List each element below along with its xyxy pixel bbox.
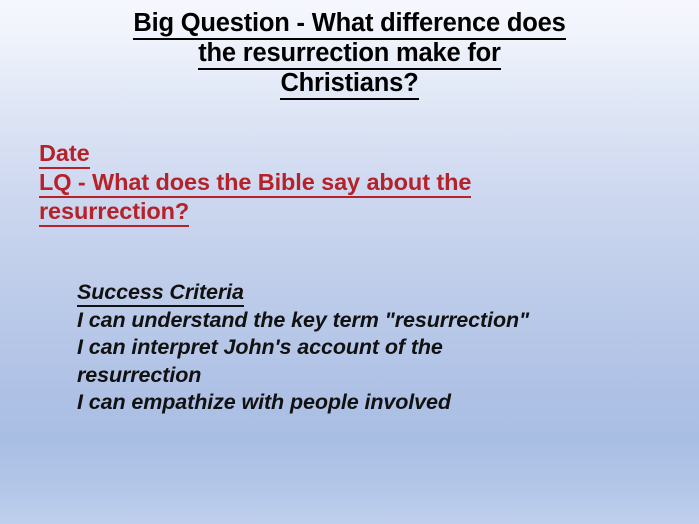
presentation-slide: Big Question - What difference does the … — [0, 0, 699, 524]
success-criteria-block: Success Criteria I can understand the ke… — [77, 279, 637, 417]
success-criteria-item: resurrection — [77, 362, 637, 390]
learning-question-block: Date LQ - What does the Bible say about … — [39, 139, 579, 226]
title-line-3: Christians? — [0, 68, 699, 98]
title-line-3-text: Christians? — [280, 69, 418, 100]
date-label-text: Date — [39, 140, 90, 169]
title-line-2-text: the resurrection make for — [198, 39, 501, 70]
learning-question-line-1: LQ - What does the Bible say about the — [39, 168, 579, 197]
date-label: Date — [39, 139, 579, 168]
learning-question-line-2: resurrection? — [39, 197, 579, 226]
learning-question-line-1-text: LQ - What does the Bible say about the — [39, 169, 471, 198]
success-criteria-item: I can understand the key term "resurrect… — [77, 307, 637, 335]
success-criteria-item: I can empathize with people involved — [77, 389, 637, 417]
page-title: Big Question - What difference does the … — [0, 8, 699, 98]
success-criteria-item: I can interpret John's account of the — [77, 334, 637, 362]
title-line-1: Big Question - What difference does — [0, 8, 699, 38]
success-criteria-heading: Success Criteria — [77, 279, 637, 307]
title-line-1-text: Big Question - What difference does — [133, 9, 565, 40]
title-line-2: the resurrection make for — [0, 38, 699, 68]
learning-question-line-2-text: resurrection? — [39, 198, 189, 227]
success-criteria-heading-text: Success Criteria — [77, 280, 244, 307]
